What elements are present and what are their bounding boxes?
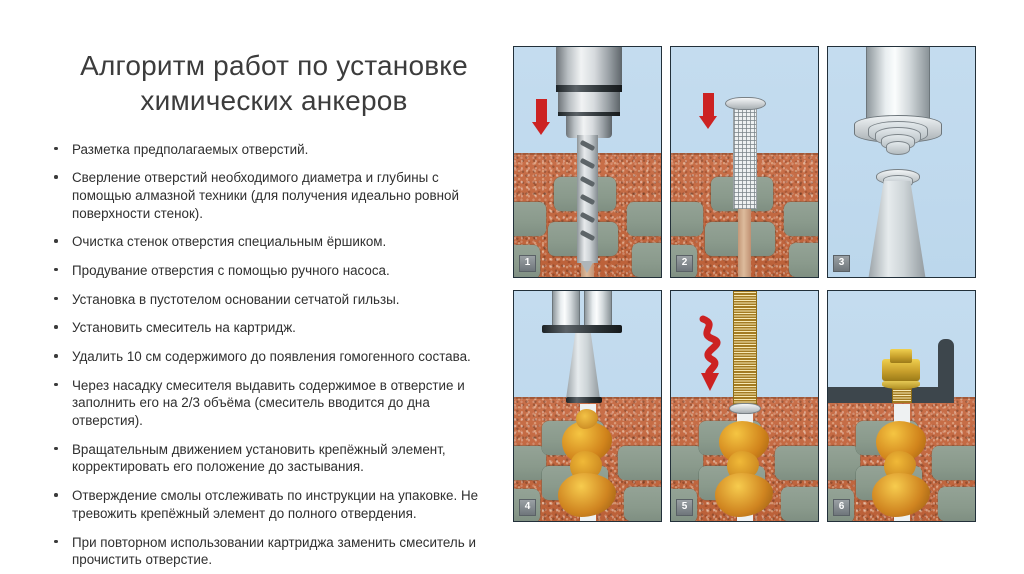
hollow-block [938, 487, 976, 521]
bullet-dot-icon [54, 239, 58, 243]
down-arrow-icon [532, 99, 552, 139]
slide-root: Алгоритм работ по установке химических а… [0, 0, 1024, 574]
illustration-grid: 1 2 [513, 46, 976, 528]
hollow-block [781, 487, 819, 521]
illustration-panel-3: 3 [827, 46, 976, 278]
hollow-block [670, 202, 703, 236]
list-item-text: Сверление отверстий необходимого диаметр… [72, 170, 459, 220]
hollow-block [513, 202, 546, 236]
hollow-block [627, 202, 662, 236]
bullet-dot-icon [54, 175, 58, 179]
list-item: При повторном использовании картриджа за… [48, 534, 500, 569]
text-column: Алгоритм работ по установке химических а… [48, 48, 500, 548]
list-item: Сверление отверстий необходимого диаметр… [48, 169, 500, 222]
illustration-panel-4: 4 [513, 290, 662, 522]
bullet-dot-icon [54, 268, 58, 272]
steel-bracket [827, 387, 950, 403]
list-item: Удалить 10 см содержимого до появления г… [48, 348, 500, 366]
list-item: Установка в пустотелом основании сетчато… [48, 291, 500, 309]
hollow-block [932, 446, 976, 480]
mesh-sleeve [733, 103, 757, 209]
step-badge: 6 [833, 499, 850, 516]
hollow-block [775, 446, 819, 480]
list-item-text: Отверждение смолы отслеживать по инструк… [72, 488, 478, 521]
bullet-dot-icon [54, 383, 58, 387]
bullet-dot-icon [54, 354, 58, 358]
step-badge: 1 [519, 255, 536, 272]
hollow-block [618, 446, 662, 480]
step-badge: 2 [676, 255, 693, 272]
list-item-text: Удалить 10 см содержимого до появления г… [72, 349, 471, 364]
list-item-text: Разметка предполагаемых отверстий. [72, 142, 308, 157]
bullet-dot-icon [54, 447, 58, 451]
cartridge-body [584, 290, 612, 327]
step-badge: 4 [519, 499, 536, 516]
drill-tip [580, 261, 594, 273]
list-item-text: При повторном использовании картриджа за… [72, 535, 476, 568]
steel-bracket-leg [938, 339, 954, 403]
bullet-dot-icon [54, 297, 58, 301]
illustration-panel-1: 1 [513, 46, 662, 278]
step-badge: 5 [676, 499, 693, 516]
bullet-dot-icon [54, 540, 58, 544]
cartridge-holder [542, 325, 622, 333]
list-item-text: Очистка стенок отверстия специальным ёрш… [72, 234, 386, 249]
illustration-panel-2: 2 [670, 46, 819, 278]
bullet-dot-icon [54, 493, 58, 497]
threaded-rod [733, 290, 757, 409]
hollow-block [624, 487, 662, 521]
drill-chuck [556, 46, 622, 87]
nozzle-opening [886, 141, 910, 155]
list-item-text: Вращательным движением установить крепёж… [72, 442, 446, 475]
list-item: Через насадку смесителя выдавить содержи… [48, 377, 500, 430]
bullet-dot-icon [54, 325, 58, 329]
illustration-panel-5: 5 [670, 290, 819, 522]
list-item-text: Продувание отверстия с помощью ручного н… [72, 263, 390, 278]
step-badge: 3 [833, 255, 850, 272]
steps-list: Разметка предполагаемых отверстий. Сверл… [48, 141, 500, 569]
list-item-text: Установка в пустотелом основании сетчато… [72, 292, 400, 307]
rod-end [890, 349, 912, 363]
cartridge-body [866, 46, 930, 121]
list-item: Разметка предполагаемых отверстий. [48, 141, 500, 159]
list-item: Установить смеситель на картридж. [48, 319, 500, 337]
list-item: Очистка стенок отверстия специальным ёрш… [48, 233, 500, 251]
hollow-block [784, 202, 819, 236]
list-item-text: Установить смеситель на картридж. [72, 320, 296, 335]
sleeve-flange [725, 97, 766, 110]
down-arrow-icon [699, 93, 719, 133]
hollow-block [789, 243, 819, 277]
list-item: Вращательным движением установить крепёж… [48, 441, 500, 476]
cartridge-body [552, 290, 580, 327]
rotate-down-arrow-icon [693, 313, 727, 391]
list-item: Продувание отверстия с помощью ручного н… [48, 262, 500, 280]
page-title: Алгоритм работ по установке химических а… [48, 48, 500, 119]
illustration-panel-6: 6 [827, 290, 976, 522]
hollow-block [632, 243, 662, 277]
bullet-dot-icon [54, 147, 58, 151]
list-item: Отверждение смолы отслеживать по инструк… [48, 487, 500, 522]
list-item-text: Через насадку смесителя выдавить содержи… [72, 378, 465, 428]
drilled-hole [738, 207, 751, 278]
